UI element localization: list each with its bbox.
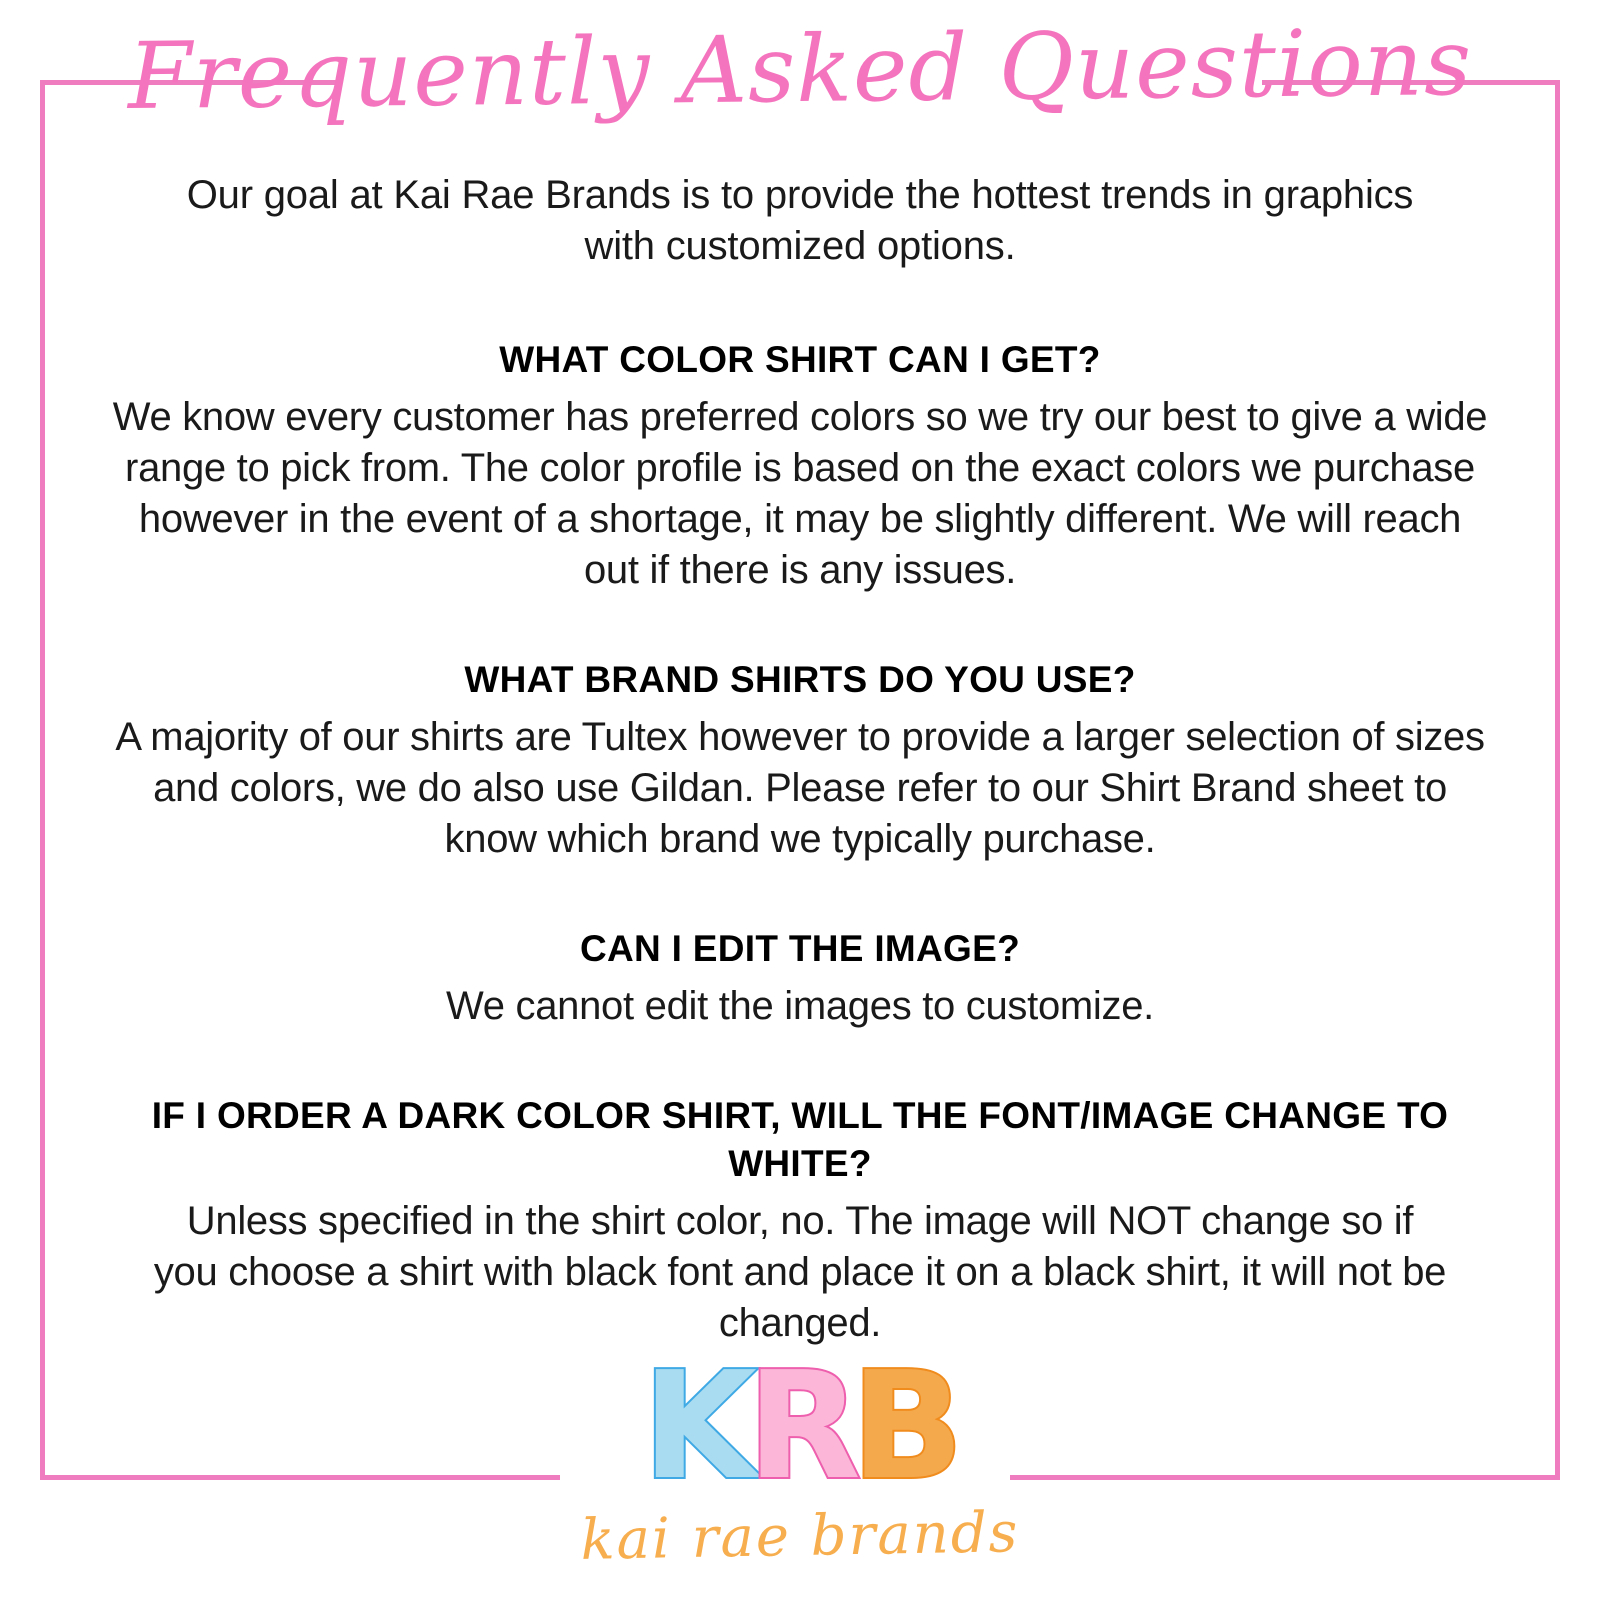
frame-right-segment xyxy=(1555,80,1560,1480)
faq-question: CAN I EDIT THE IMAGE? xyxy=(110,925,1490,973)
faq-content: Our goal at Kai Rae Brands is to provide… xyxy=(110,170,1490,1349)
brand-logo: KRB kai rae brands xyxy=(0,1352,1600,1568)
faq-answer: We cannot edit the images to customize. xyxy=(110,981,1490,1032)
logo-letters: KRB xyxy=(642,1352,957,1500)
faq-item: WHAT BRAND SHIRTS DO YOU USE? A majority… xyxy=(110,656,1490,865)
faq-answer: A majority of our shirts are Tultex howe… xyxy=(110,712,1490,865)
page-title: Frequently Asked Questions xyxy=(0,2,1600,139)
faq-answer: Unless specified in the shirt color, no.… xyxy=(150,1196,1450,1349)
faq-question: IF I ORDER A DARK COLOR SHIRT, WILL THE … xyxy=(110,1092,1490,1188)
logo-letter-b: B xyxy=(851,1352,958,1500)
logo-letter-r: R xyxy=(747,1352,855,1500)
faq-question: WHAT COLOR SHIRT CAN I GET? xyxy=(110,336,1490,384)
faq-item: CAN I EDIT THE IMAGE? We cannot edit the… xyxy=(110,925,1490,1032)
faq-item: WHAT COLOR SHIRT CAN I GET? We know ever… xyxy=(110,336,1490,596)
logo-wordmark: kai rae brands xyxy=(0,1492,1600,1582)
faq-question: WHAT BRAND SHIRTS DO YOU USE? xyxy=(110,656,1490,704)
faq-answer: We know every customer has preferred col… xyxy=(110,392,1490,596)
logo-letter-k: K xyxy=(642,1352,751,1500)
faq-page: Frequently Asked Questions Our goal at K… xyxy=(0,0,1600,1600)
intro-paragraph: Our goal at Kai Rae Brands is to provide… xyxy=(170,170,1430,272)
frame-left-segment xyxy=(40,80,45,1480)
faq-item: IF I ORDER A DARK COLOR SHIRT, WILL THE … xyxy=(110,1092,1490,1349)
